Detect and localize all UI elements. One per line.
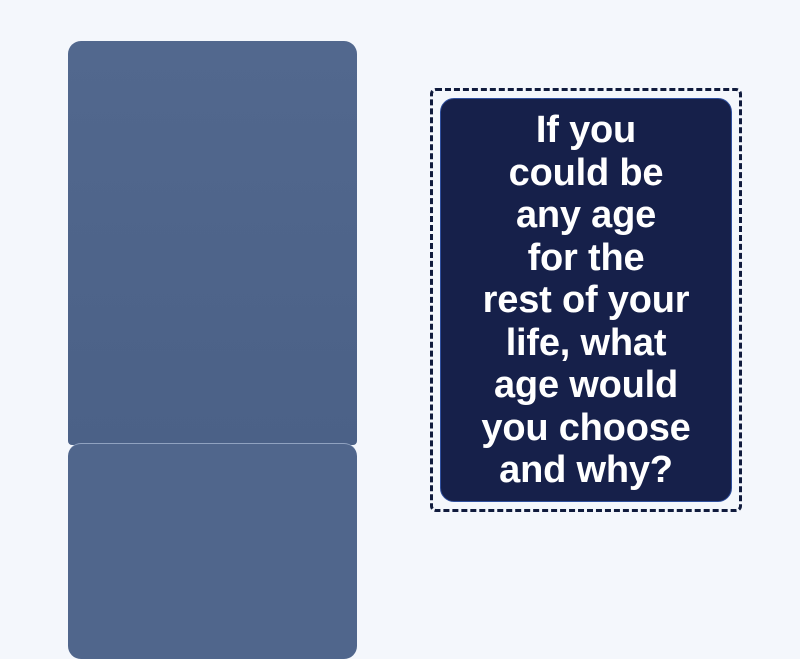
flashcard-question-line: rest of your [453,279,719,322]
flashcard[interactable]: If youcould beany agefor therest of your… [440,98,732,502]
flashcard-question-line: you choose [453,407,719,450]
flashcard-question-line: If you [453,109,719,152]
deck-stack-layer [68,443,357,556]
deck-top-card-back[interactable] [68,41,357,445]
flashcard-question-line: could be [453,152,719,195]
flashcard-question-line: age would [453,364,719,407]
flashcard-question-line: life, what [453,322,719,365]
flashcard-question-line: any age [453,194,719,237]
flashcard-question-line: and why? [453,449,719,492]
card-deck[interactable] [68,41,357,553]
flashcard-question-line: for the [453,237,719,280]
flashcard-selection-border[interactable]: If youcould beany agefor therest of your… [430,88,742,512]
flashcard-question-text: If youcould beany agefor therest of your… [441,99,731,498]
activity-stage: If youcould beany agefor therest of your… [0,0,800,600]
